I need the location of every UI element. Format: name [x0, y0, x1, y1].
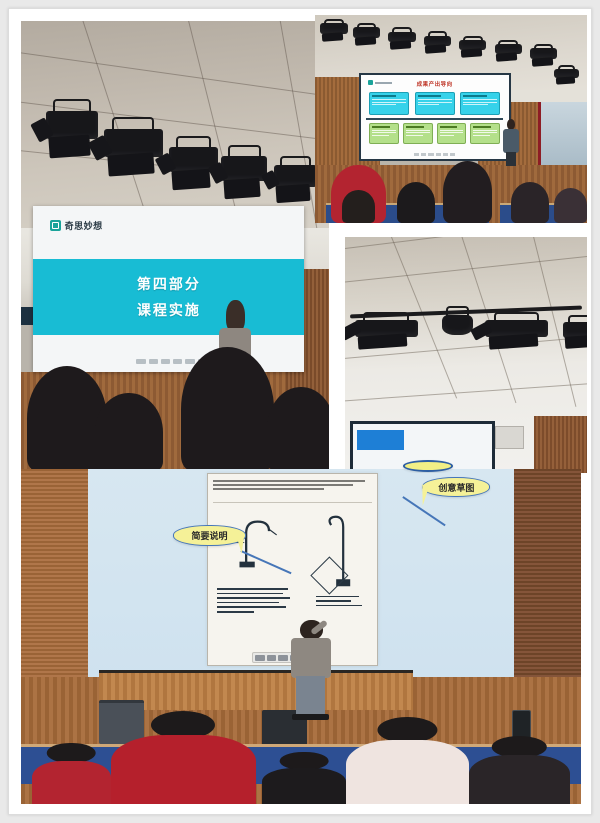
audience-member	[262, 752, 346, 804]
slide-banner	[357, 430, 404, 450]
stage-light	[104, 129, 163, 174]
audience-member	[111, 711, 257, 804]
slide-box	[437, 123, 467, 145]
audience	[21, 690, 581, 804]
audience	[315, 144, 587, 223]
wood-panelling-left	[21, 469, 94, 677]
worksheet-text-left	[217, 585, 294, 654]
slide-logo-text: 奇思妙想	[65, 219, 103, 232]
slide-box	[470, 123, 500, 145]
stage-light	[320, 23, 347, 40]
audience-member	[342, 190, 375, 223]
slide-box	[460, 92, 500, 115]
slide-title-line-1: 第四部分	[137, 274, 201, 294]
photo-ceiling-lights	[345, 237, 587, 473]
sketch-lamp-drawing	[229, 512, 286, 573]
callout-creative-sketch: 创意草图	[422, 477, 490, 497]
audience	[21, 336, 329, 471]
sketch-svg	[229, 512, 286, 573]
wood-panelling-right	[514, 469, 581, 690]
slide-timeline-axis	[366, 118, 502, 120]
pen-icon[interactable]	[278, 655, 288, 661]
slide-top-row	[369, 92, 500, 115]
audience-member	[511, 182, 549, 223]
photo-student-work: 创意草图 简要说明	[21, 469, 581, 804]
audience-member	[554, 188, 587, 223]
slide-box	[369, 123, 399, 145]
callout-label: 创意草图	[438, 481, 474, 494]
slide-title: 成果产出导向	[361, 80, 509, 88]
brand-logo-icon	[50, 220, 61, 231]
callout-brief-description: 简要说明	[173, 525, 245, 546]
stage-light	[554, 69, 578, 84]
stage-light	[495, 44, 522, 61]
photo-lecture-wide: 成果产出导向	[315, 15, 587, 223]
stage-light	[563, 322, 587, 348]
slide-logo: 奇思妙想	[50, 219, 103, 232]
slide-title-line-2: 课程实施	[137, 300, 201, 320]
stage-light	[388, 32, 415, 49]
stage-light	[353, 27, 380, 44]
collage-frame: 奇思妙想 第四部分 课程实施	[8, 8, 592, 815]
slide-title-band: 第四部分 课程实施	[33, 259, 304, 336]
slide-box	[415, 92, 455, 115]
callout-tail	[416, 484, 429, 505]
worksheet-header	[213, 478, 371, 503]
wood-panelling	[534, 416, 587, 473]
gear-icon[interactable]	[255, 655, 265, 661]
stage-light	[485, 320, 548, 348]
audience-member	[397, 182, 435, 223]
slide-box	[369, 92, 409, 115]
audience-member	[32, 743, 110, 805]
stage-light	[459, 40, 486, 57]
stage-light	[442, 315, 473, 348]
wall-speaker	[495, 426, 524, 450]
audience-member	[469, 736, 570, 804]
audience-member	[443, 161, 492, 223]
stage-light	[530, 48, 557, 65]
list-icon[interactable]	[267, 655, 277, 661]
stage-light	[424, 36, 451, 53]
stage-light	[274, 165, 317, 201]
slide-callout-bubble	[403, 460, 453, 472]
projection-screen	[350, 421, 495, 473]
slide-bottom-row	[369, 123, 500, 145]
slide-box	[403, 123, 433, 145]
audience-member	[346, 717, 469, 804]
stage-light	[355, 320, 418, 348]
photo-main-slide: 奇思妙想 第四部分 课程实施	[21, 21, 329, 471]
callout-label: 简要说明	[191, 529, 227, 542]
